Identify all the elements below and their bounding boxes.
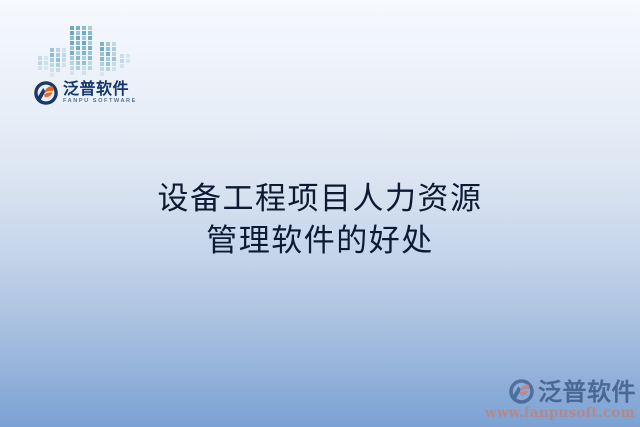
fanpu-logo-mark-icon (33, 80, 59, 106)
brand-block: 泛普软件 FANPU SOFTWARE (32, 18, 148, 122)
brand-wordmark: 泛普软件 FANPU SOFTWARE (63, 81, 137, 105)
slide-title-line-2: 管理软件的好处 (0, 220, 640, 262)
watermark: 泛普软件 www.fanpusoft.com (485, 378, 636, 421)
brand-logo-lockup: 泛普软件 FANPU SOFTWARE (33, 80, 137, 106)
presentation-slide: 泛普软件 FANPU SOFTWARE 设备工程项目人力资源 管理软件的好处 泛… (0, 0, 640, 427)
brand-name-en: FANPU SOFTWARE (63, 99, 137, 105)
watermark-logo-row: 泛普软件 (508, 378, 636, 405)
pixel-city-skyline-icon (32, 18, 148, 80)
slide-title: 设备工程项目人力资源 管理软件的好处 (0, 178, 640, 262)
watermark-url: www.fanpusoft.com (485, 406, 635, 421)
slide-title-line-1: 设备工程项目人力资源 (0, 178, 640, 220)
watermark-name-cn: 泛普软件 (538, 380, 636, 404)
fanpu-logo-mark-icon (508, 378, 535, 405)
brand-name-cn: 泛普软件 (63, 81, 137, 97)
